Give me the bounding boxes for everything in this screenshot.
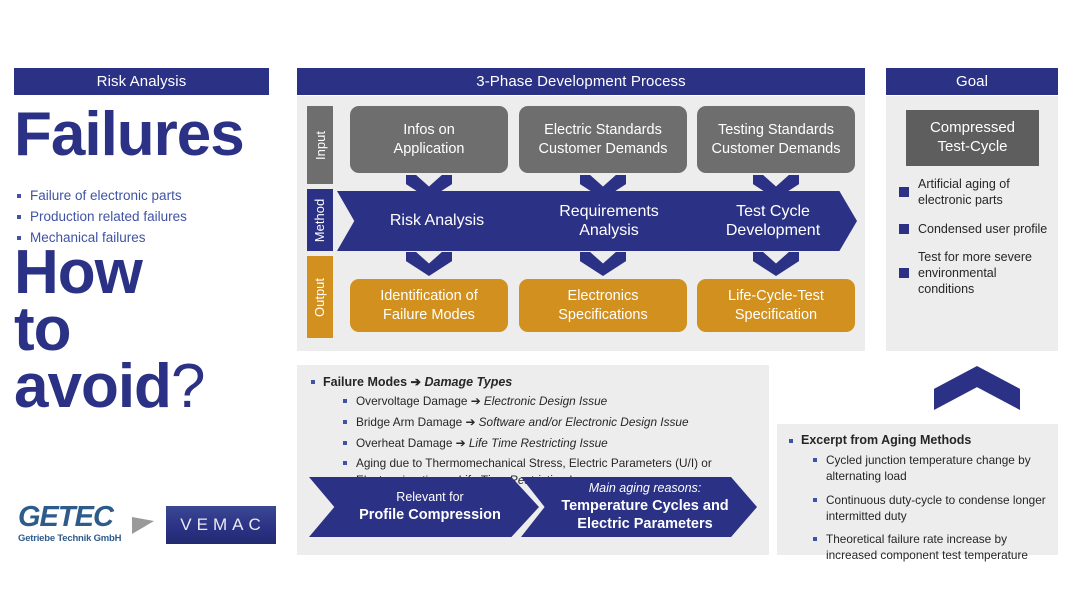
list-item-italic: Electronic Design Issue	[484, 394, 607, 408]
goal-box-label: CompressedTest-Cycle	[930, 119, 1015, 157]
list-item: Theoretical failure rate increase by inc…	[813, 531, 1051, 564]
headline-how-line3: avoid	[14, 352, 171, 421]
output-box-3[interactable]: Life-Cycle-TestSpecification	[697, 279, 855, 332]
method-arrow-2-label: RequirementsAnalysis	[555, 202, 663, 240]
summary-arrow-right-big-2: Electric Parameters	[561, 515, 728, 533]
output-box-2-label: ElectronicsSpecifications	[558, 287, 647, 323]
row-label-method-text: Method	[313, 198, 328, 241]
list-item: Overvoltage Damage ➔ Electronic Design I…	[343, 393, 753, 410]
method-arrow-3[interactable]: Test CycleDevelopment	[681, 191, 857, 251]
output-box-1[interactable]: Identification ofFailure Modes	[350, 279, 508, 332]
row-label-output-text: Output	[313, 277, 328, 316]
goal-header: Goal	[886, 68, 1058, 95]
summary-arrow-left-big: Profile Compression	[359, 506, 501, 524]
getec-logo-subtitle: Getriebe Technik GmbH	[18, 533, 148, 544]
output-box-2[interactable]: ElectronicsSpecifications	[519, 279, 687, 332]
headline-how-line1: How	[14, 244, 284, 301]
list-item-plain: Overheat Damage ➔	[356, 436, 469, 450]
failure-modes-title-plain: Failure Modes ➔	[323, 375, 424, 389]
row-label-method: Method	[307, 189, 333, 251]
chevron-up-icon	[934, 366, 1020, 410]
goal-box[interactable]: CompressedTest-Cycle	[906, 110, 1039, 166]
getec-swoosh-icon	[132, 517, 154, 534]
failure-modes-panel: Failure Modes ➔ Damage Types Overvoltage…	[297, 365, 769, 555]
list-item-plain: Overvoltage Damage ➔	[356, 394, 484, 408]
row-label-input: Input	[307, 106, 333, 184]
headline-how-question-mark: ?	[171, 352, 204, 421]
headline-how-to-avoid: How to avoid?	[14, 244, 284, 415]
list-item-italic: Software and/or Electronic Design Issue	[479, 415, 689, 429]
output-box-1-label: Identification ofFailure Modes	[380, 287, 478, 323]
input-box-1-label: Infos onApplication	[394, 121, 465, 157]
method-arrow-1-label: Risk Analysis	[386, 211, 488, 230]
method-arrow-1[interactable]: Risk Analysis	[337, 191, 529, 251]
input-box-1[interactable]: Infos onApplication	[350, 106, 508, 173]
headline-failures-text: Failures	[14, 100, 244, 169]
summary-arrow-right-italic: Main aging reasons:	[561, 481, 728, 497]
output-box-3-label: Life-Cycle-TestSpecification	[728, 287, 824, 323]
risk-analysis-header: Risk Analysis	[14, 68, 269, 95]
vemac-logo: VEMAC	[166, 506, 276, 544]
list-item: Cycled junction temperature change by al…	[813, 452, 1051, 485]
getec-logo-word: GETEC	[18, 503, 148, 532]
getec-logo: GETEC Getriebe Technik GmbH	[18, 503, 148, 548]
row-label-output: Output	[307, 256, 333, 338]
process-header-label: 3-Phase Development Process	[476, 73, 685, 90]
goal-panel: CompressedTest-Cycle Artificial aging of…	[886, 96, 1058, 351]
process-panel: Input Method Output Infos onApplication …	[297, 96, 865, 351]
chevron-down-icon	[406, 252, 452, 276]
method-arrow-3-label: Test CycleDevelopment	[722, 202, 824, 240]
chevron-down-icon	[580, 252, 626, 276]
list-item-italic: Life Time Restricting Issue	[469, 436, 608, 450]
failure-modes-title: Failure Modes ➔ Damage Types	[311, 374, 512, 389]
vemac-logo-word: VEMAC	[176, 515, 265, 535]
list-item: Failure of electronic parts	[16, 186, 278, 207]
method-arrow-2[interactable]: RequirementsAnalysis	[509, 191, 701, 251]
summary-arrow-right-big-1: Temperature Cycles and	[561, 497, 728, 515]
headline-failures: Failures	[14, 104, 284, 166]
failure-modes-title-italic: Damage Types	[424, 375, 512, 389]
list-item: Production related failures	[16, 207, 278, 228]
list-item: Condensed user profile	[896, 221, 1056, 237]
list-item: Continuous duty-cycle to condense longer…	[813, 492, 1051, 525]
input-box-3[interactable]: Testing StandardsCustomer Demands	[697, 106, 855, 173]
input-box-3-label: Testing StandardsCustomer Demands	[712, 121, 841, 157]
summary-arrow-left[interactable]: Relevant for Profile Compression	[309, 477, 539, 537]
input-box-2-label: Electric StandardsCustomer Demands	[539, 121, 668, 157]
list-item: Bridge Arm Damage ➔ Software and/or Elec…	[343, 414, 753, 431]
summary-arrow-group: Relevant for Profile Compression Main ag…	[309, 477, 757, 537]
excerpt-panel: Excerpt from Aging Methods Cycled juncti…	[777, 424, 1058, 555]
excerpt-title: Excerpt from Aging Methods	[789, 433, 971, 447]
summary-arrow-right[interactable]: Main aging reasons: Temperature Cycles a…	[521, 477, 757, 537]
list-item-plain: Bridge Arm Damage ➔	[356, 415, 479, 429]
list-item: Overheat Damage ➔ Life Time Restricting …	[343, 435, 753, 452]
excerpt-list: Cycled junction temperature change by al…	[813, 452, 1051, 571]
row-label-input-text: Input	[313, 131, 328, 160]
list-item: Artificial aging of electronic parts	[896, 176, 1056, 209]
summary-arrow-left-small: Relevant for	[359, 490, 501, 506]
goal-list: Artificial aging of electronic parts Con…	[896, 176, 1056, 310]
risk-analysis-header-label: Risk Analysis	[97, 73, 187, 90]
process-header: 3-Phase Development Process	[297, 68, 865, 95]
list-item: Test for more severe environmental condi…	[896, 249, 1056, 298]
headline-how-line2: to	[14, 301, 284, 358]
input-box-2[interactable]: Electric StandardsCustomer Demands	[519, 106, 687, 173]
chevron-down-icon	[753, 252, 799, 276]
goal-header-label: Goal	[956, 73, 988, 90]
